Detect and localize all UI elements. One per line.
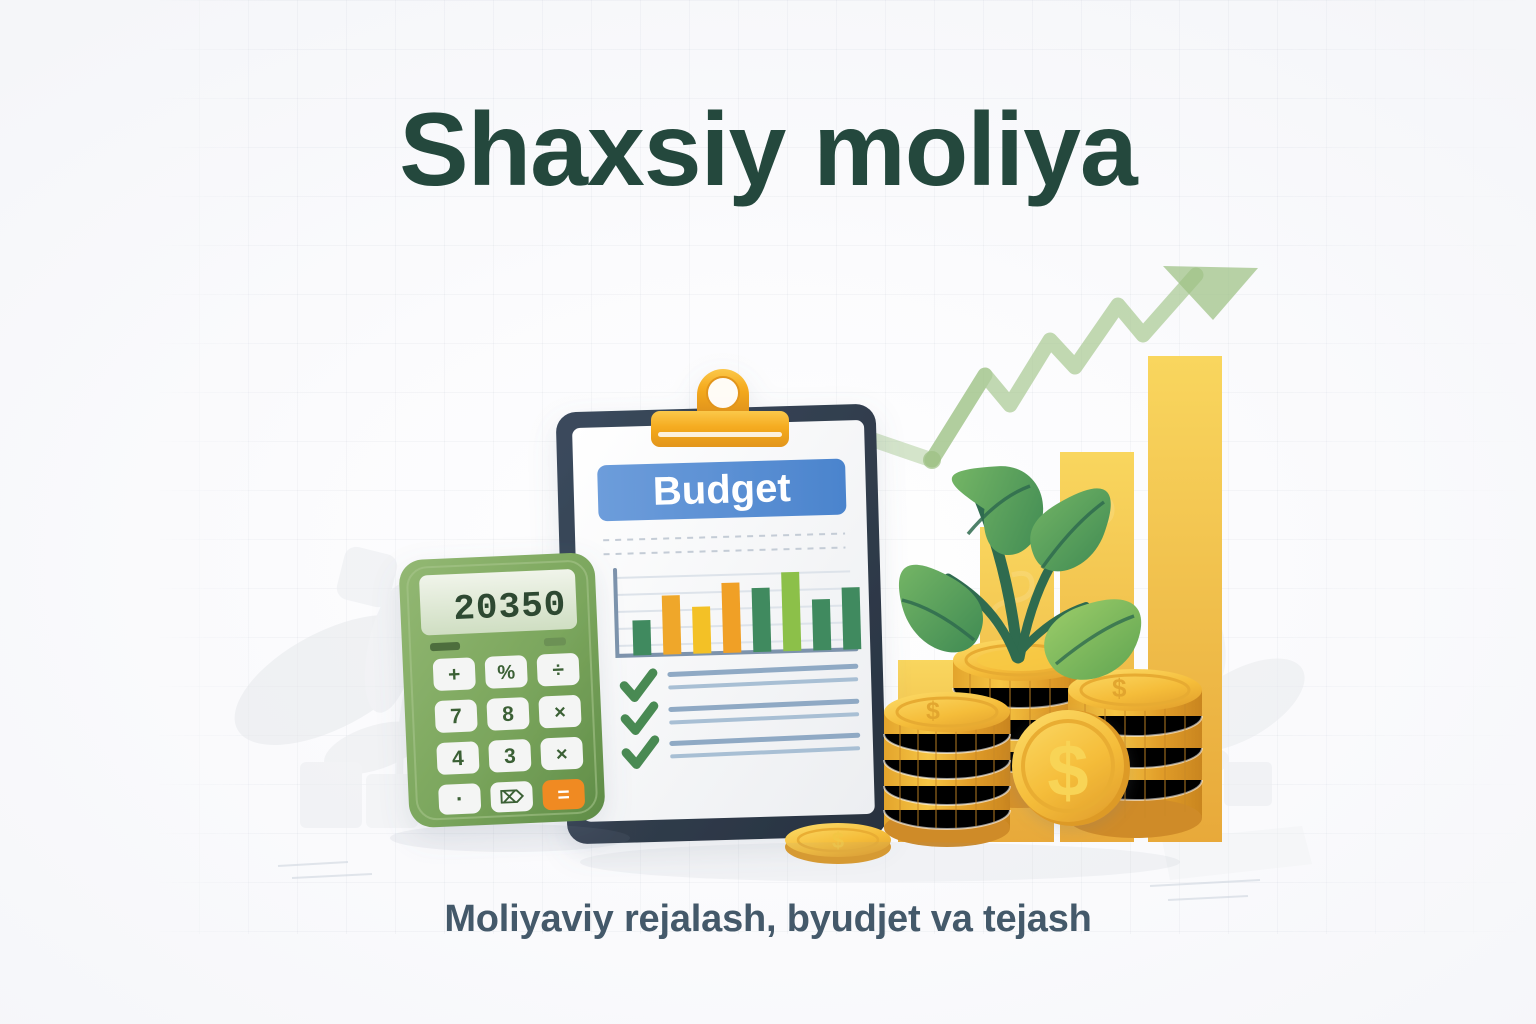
svg-text:7: 7 (450, 705, 463, 728)
svg-text:×: × (554, 701, 567, 723)
mini-bar-1 (632, 620, 651, 655)
calc-key[interactable]: 8 (486, 697, 529, 731)
mini-bar-2 (662, 595, 682, 654)
illustration-stage: Budget (0, 0, 1536, 1024)
mini-bar-6 (781, 572, 801, 651)
mini-bar-7 (812, 599, 831, 650)
calc-key[interactable]: + (433, 657, 476, 691)
calc-key[interactable]: × (538, 695, 581, 729)
calc-key[interactable]: × (540, 737, 583, 771)
budget-clipboard[interactable]: Budget (556, 369, 888, 844)
svg-text:·: · (455, 786, 463, 811)
calc-key[interactable]: 7 (434, 699, 477, 733)
page-title: Shaxsiy moliya (0, 96, 1536, 205)
svg-text:4: 4 (452, 747, 465, 771)
svg-text:+: + (448, 663, 461, 687)
calc-key[interactable]: ÷ (536, 653, 579, 687)
calc-key[interactable]: 3 (488, 739, 531, 773)
plant-leaf (899, 565, 983, 653)
svg-text:8: 8 (502, 703, 515, 727)
svg-text:=: = (557, 783, 570, 807)
calc-key[interactable]: · (438, 783, 481, 815)
svg-text:⌦: ⌦ (499, 787, 525, 807)
svg-text:3: 3 (504, 745, 517, 768)
calc-key[interactable]: % (485, 655, 528, 689)
ground-shadow (580, 842, 1180, 882)
coin-dollar-symbol: $ (926, 697, 940, 725)
desk-calculator[interactable]: 20350 + % ÷ (398, 552, 606, 828)
budget-banner-label: Budget (652, 466, 791, 514)
coin-stack-left: $ (884, 692, 1010, 847)
calculator-display-value: 20350 (453, 584, 568, 630)
ground-shadow (390, 824, 630, 852)
coin-dollar-symbol: $ (1047, 729, 1088, 812)
calc-key-equals[interactable]: = (542, 779, 585, 811)
svg-text:%: % (497, 662, 516, 685)
mini-bar-3 (692, 606, 711, 653)
calc-key[interactable]: 4 (436, 741, 479, 775)
mini-bar-5 (752, 588, 772, 652)
mini-bar-4 (721, 582, 741, 652)
calc-key[interactable]: ⌦ (490, 781, 533, 813)
svg-text:×: × (556, 743, 569, 765)
page-subtitle: Moliyaviy rejalash, byudjet va tejash (0, 898, 1536, 941)
mini-bar-8 (842, 587, 862, 649)
svg-text:÷: ÷ (552, 658, 565, 682)
coin-dollar-symbol: $ (1112, 673, 1127, 703)
